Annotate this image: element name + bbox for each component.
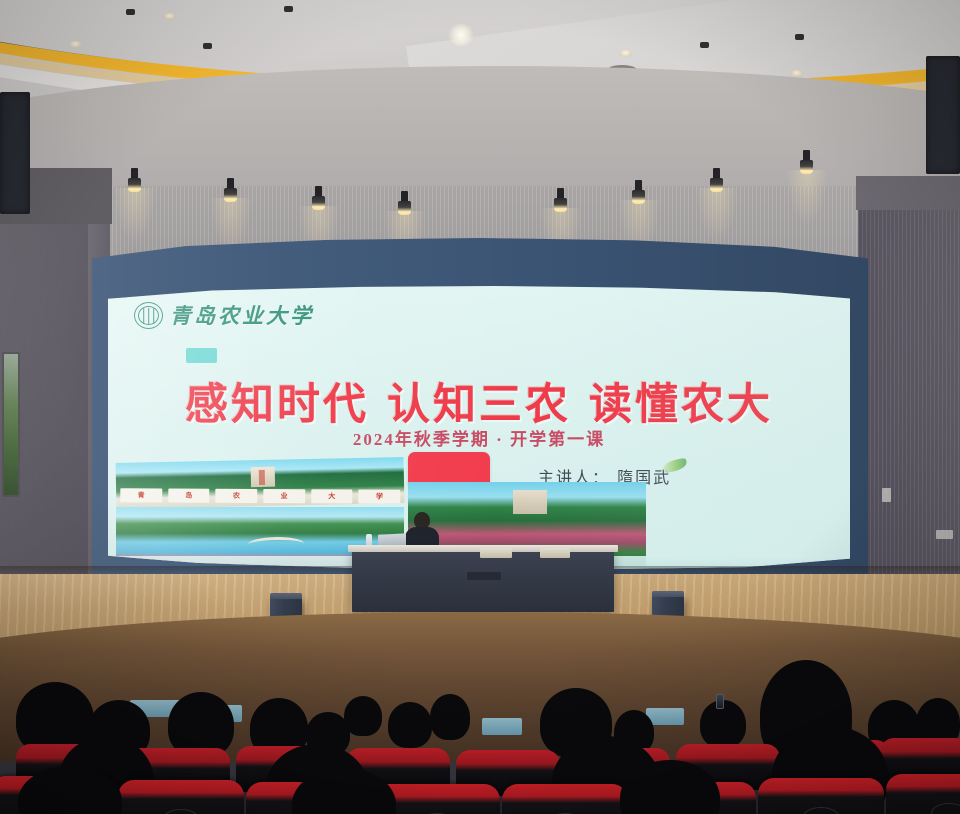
wall-speaker-left (0, 92, 30, 214)
photo-campus-aerial: 青 岛 农 业 大 学 (116, 457, 405, 509)
lawn-char: 学 (359, 490, 401, 504)
ceiling-mount-lamp (284, 6, 293, 12)
audience-member-silhouette (388, 702, 432, 748)
wall-speaker-right (926, 56, 960, 174)
slide-title: 感知时代 认知三农 读懂农大 (108, 370, 850, 432)
track-spotlight (710, 168, 723, 198)
campus-lawn-characters: 青 岛 农 业 大 学 (120, 488, 400, 503)
recessed-downlight (69, 41, 82, 48)
ceiling-mount-lamp (700, 42, 709, 48)
audience-seating (0, 640, 960, 814)
teal-accent-mark (186, 348, 217, 363)
audience-seat[interactable] (118, 780, 244, 814)
ceiling-mount-lamp (126, 9, 135, 15)
lecture-table-cable-notch (467, 572, 501, 580)
audience-seat[interactable] (758, 778, 884, 814)
track-spotlight (224, 178, 237, 208)
ceiling-mount-lamp (203, 43, 212, 49)
audience-seat[interactable] (502, 784, 628, 814)
track-spotlight (632, 180, 645, 210)
recessed-downlight (163, 13, 176, 20)
track-spotlight (398, 191, 411, 221)
ceiling-bright-spot (448, 24, 474, 46)
audience-member-silhouette (430, 694, 470, 740)
auditorium-photo: 青岛农业大学 感知时代 认知三农 读懂农大 2024年秋季学期 · 开学第一课 … (0, 0, 960, 814)
nameplate (480, 548, 512, 558)
campus-building-block (513, 490, 547, 514)
campus-arch-bridge (248, 537, 304, 552)
slide-subtitle: 2024年秋季学期 · 开学第一课 (108, 425, 850, 450)
track-spotlight (554, 188, 567, 218)
track-spotlight (800, 150, 813, 180)
qau-emblem-icon (134, 302, 163, 329)
seat-back-desk-screen[interactable] (482, 718, 522, 735)
university-logo-text: 青岛农业大学 (170, 300, 314, 330)
raised-phone-recording[interactable] (716, 694, 724, 709)
window-slot-left (2, 352, 20, 497)
right-wall-upper-panel (856, 176, 960, 210)
nameplate (540, 548, 570, 558)
track-spotlight (312, 186, 325, 216)
lawn-char: 青 (120, 488, 162, 502)
lawn-char: 大 (311, 489, 353, 503)
lawn-char: 业 (263, 489, 305, 503)
audience-seat[interactable] (886, 774, 960, 814)
university-logo: 青岛农业大学 (134, 300, 314, 330)
recessed-downlight (619, 50, 632, 57)
track-spotlight (128, 168, 141, 198)
lawn-char: 岛 (168, 489, 210, 503)
ceiling-mount-lamp (795, 34, 804, 40)
audience-member-silhouette (176, 702, 218, 742)
wall-signage-plate (882, 488, 891, 502)
campus-main-tower (251, 467, 275, 487)
led-video-wall-screen[interactable]: 青岛农业大学 感知时代 认知三农 读懂农大 2024年秋季学期 · 开学第一课 … (108, 286, 850, 570)
lawn-char: 农 (216, 489, 258, 503)
wall-signage-plate (936, 530, 953, 539)
lecture-table (352, 550, 614, 612)
